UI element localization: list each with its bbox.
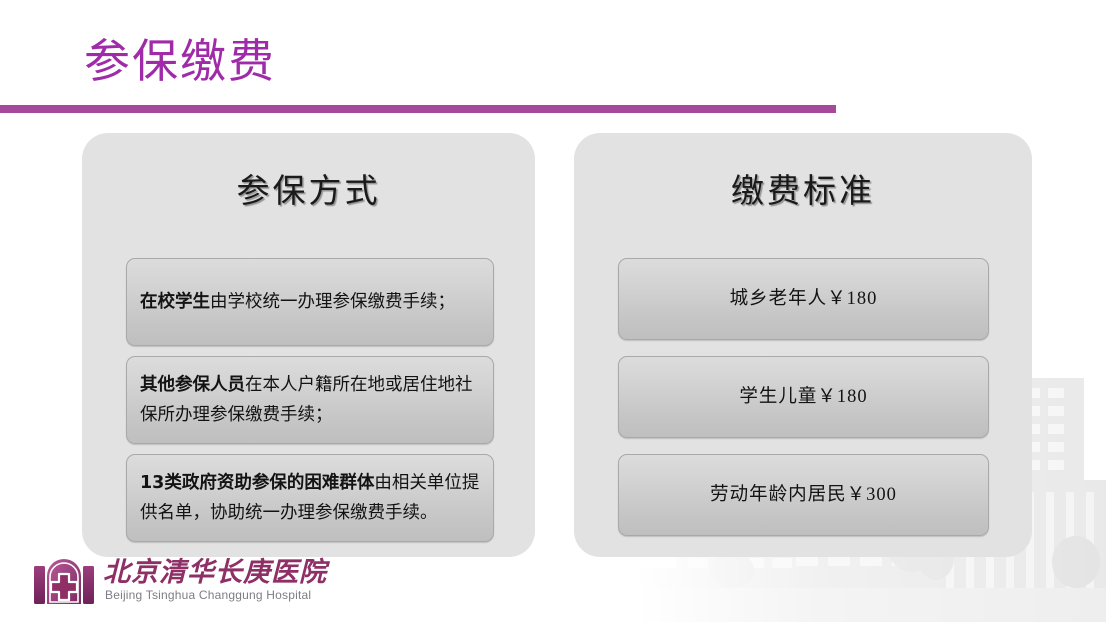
list-item[interactable]: 城乡老年人￥180 — [618, 258, 989, 340]
enrollment-item-text-1: 在校学生由学校统一办理参保缴费手续； — [140, 287, 455, 317]
panel-payment-standards: 缴费标准 城乡老年人￥180 学生儿童￥180 劳动年龄内居民￥300 — [574, 133, 1032, 557]
list-item[interactable]: 劳动年龄内居民￥300 — [618, 454, 989, 536]
slide-canvas: 参保缴费 参保方式 在校学生由学校统一办理参保缴费手续； 其他参保人员在本人户籍… — [0, 0, 1106, 622]
list-item[interactable]: 其他参保人员在本人户籍所在地或居住地社保所办理参保缴费手续； — [126, 356, 494, 444]
hospital-cross-icon — [33, 556, 95, 608]
page-title: 参保缴费 — [84, 30, 276, 92]
enrollment-item-bold-2: 其他参保人员 — [140, 375, 245, 395]
left-panel-header: 参保方式 — [82, 172, 535, 212]
payment-standard-text-3: 劳动年龄内居民￥300 — [710, 482, 897, 508]
enrollment-item-bold-1: 在校学生 — [140, 292, 210, 312]
enrollment-item-rest-1: 由学校统一办理参保缴费手续； — [210, 292, 455, 312]
logo-name-english: Beijing Tsinghua Changgung Hospital — [105, 587, 311, 603]
payment-standard-text-1: 城乡老年人￥180 — [730, 286, 878, 312]
hospital-logo: 北京清华长庚医院 Beijing Tsinghua Changgung Hosp… — [33, 555, 301, 611]
list-item[interactable]: 学生儿童￥180 — [618, 356, 989, 438]
right-panel-header: 缴费标准 — [574, 172, 1032, 212]
list-item[interactable]: 在校学生由学校统一办理参保缴费手续； — [126, 258, 494, 346]
title-underline-rule — [0, 105, 836, 113]
panel-enrollment-methods: 参保方式 在校学生由学校统一办理参保缴费手续； 其他参保人员在本人户籍所在地或居… — [82, 133, 535, 557]
enrollment-item-bold-3: 13类政府资助参保的困难群体 — [140, 473, 374, 493]
enrollment-item-text-2: 其他参保人员在本人户籍所在地或居住地社保所办理参保缴费手续； — [140, 370, 480, 430]
logo-name-chinese: 北京清华长庚医院 — [103, 555, 327, 589]
payment-standard-text-2: 学生儿童￥180 — [739, 384, 867, 410]
list-item[interactable]: 13类政府资助参保的困难群体由相关单位提供名单，协助统一办理参保缴费手续。 — [126, 454, 494, 542]
enrollment-item-text-3: 13类政府资助参保的困难群体由相关单位提供名单，协助统一办理参保缴费手续。 — [140, 468, 480, 528]
